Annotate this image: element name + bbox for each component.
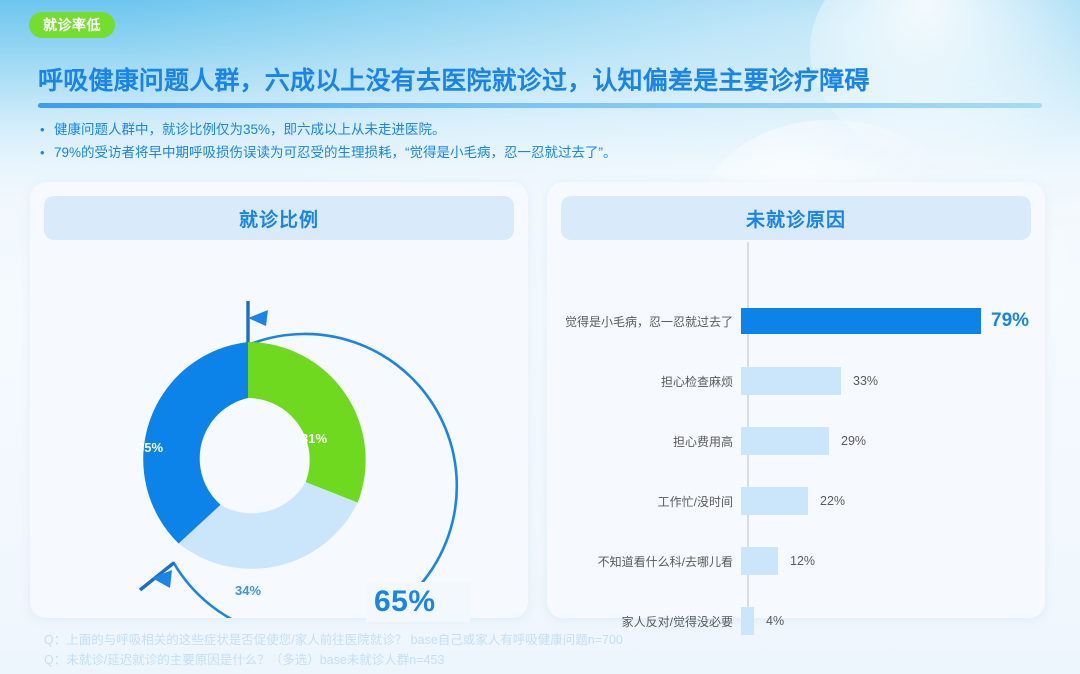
bar-value-label: 29%: [841, 434, 866, 448]
bar-category-label: 不知道看什么科/去哪儿看: [547, 553, 741, 570]
bar-fill: [741, 427, 829, 455]
bar-row: 担心检查麻烦 33%: [547, 366, 1045, 396]
bar-chart: 觉得是小毛病，忍一忍就过去了 79% 担心检查麻烦 33% 担心费用高 29%: [547, 242, 1045, 618]
bar-category-label: 担心费用高: [547, 433, 741, 450]
bar-fill: [741, 367, 841, 395]
bar-value-label: 22%: [820, 494, 845, 508]
visit-rate-card: 就诊比例: [30, 182, 528, 618]
list-item: • 健康问题人群中，就诊比例仅为35%，即六成以上从未走进医院。: [40, 118, 1030, 141]
bar-category-label: 工作忙/没时间: [547, 493, 741, 510]
bullet-text: 79%的受访者将早中期呼吸损伤误读为可忍受的生理损耗，“觉得是小毛病，忍一忍就过…: [54, 141, 617, 164]
bar-fill: [741, 487, 808, 515]
title-divider: [38, 103, 1042, 108]
bar-row: 不知道看什么科/去哪儿看 12%: [547, 546, 1045, 576]
source-note-line: Q：上面的与呼吸相关的这些症状是否促使您/家人前往医院就诊？ base自己或家人…: [44, 630, 623, 650]
donut-label-lightblue: 34%: [235, 583, 261, 598]
bar-track: 4%: [741, 606, 1045, 636]
bullet-marker: •: [40, 141, 54, 164]
bar-fill: [741, 607, 754, 635]
bar-row: 工作忙/没时间 22%: [547, 486, 1045, 516]
bar-value-label: 33%: [853, 374, 878, 388]
visit-rate-callout: 65%: [366, 582, 470, 622]
donut-svg: 31% 34% 35%: [30, 240, 528, 618]
callout-value: 65%: [374, 585, 436, 619]
bullet-marker: •: [40, 118, 54, 141]
donut-slices: [143, 342, 365, 569]
bar-row: 觉得是小毛病，忍一忍就过去了 79%: [547, 306, 1045, 336]
bar-value-label: 12%: [790, 554, 815, 568]
status-badge: 就诊率低: [29, 12, 115, 38]
bar-category-label: 担心检查麻烦: [547, 373, 741, 390]
donut-slice-green: [248, 342, 366, 503]
reasons-card: 未就诊原因 觉得是小毛病，忍一忍就过去了 79% 担心检查麻烦 33% 担心费用…: [547, 182, 1045, 618]
donut-chart: 31% 34% 35%: [30, 240, 528, 618]
bullet-text: 健康问题人群中，就诊比例仅为35%，即六成以上从未走进医院。: [54, 118, 446, 141]
arc-arrowhead-top: [248, 310, 268, 326]
list-item: • 79%的受访者将早中期呼吸损伤误读为可忍受的生理损耗，“觉得是小毛病，忍一忍…: [40, 141, 1030, 164]
card-title-visit-rate: 就诊比例: [44, 196, 514, 240]
bar-category-label: 觉得是小毛病，忍一忍就过去了: [547, 313, 741, 330]
bar-fill: [741, 547, 778, 575]
source-notes: Q：上面的与呼吸相关的这些症状是否促使您/家人前往医院就诊？ base自己或家人…: [44, 630, 623, 670]
bar-track: 12%: [741, 546, 1045, 576]
bar-track: 22%: [741, 486, 1045, 516]
bar-fill: [741, 308, 981, 334]
donut-label-darkblue: 35%: [137, 440, 163, 455]
slide-root: 就诊率低 呼吸健康问题人群，六成以上没有去医院就诊过，认知偏差是主要诊疗障碍 •…: [0, 0, 1080, 674]
bar-track: 29%: [741, 426, 1045, 456]
bar-row: 担心费用高 29%: [547, 426, 1045, 456]
bar-value-label: 79%: [991, 310, 1029, 332]
bar-value-label: 4%: [766, 614, 784, 628]
page-title: 呼吸健康问题人群，六成以上没有去医院就诊过，认知偏差是主要诊疗障碍: [38, 61, 1038, 97]
card-title-reasons: 未就诊原因: [561, 196, 1031, 240]
bar-track: 79%: [741, 306, 1045, 336]
bar-category-label: 家人反对/觉得没必要: [547, 613, 741, 630]
source-note-line: Q：未就诊/延迟就诊的主要原因是什么？（多选）base未就诊人群n=453: [44, 650, 623, 670]
summary-bullets: • 健康问题人群中，就诊比例仅为35%，即六成以上从未走进医院。 • 79%的受…: [40, 118, 1030, 164]
bar-track: 33%: [741, 366, 1045, 396]
donut-label-green: 31%: [301, 431, 327, 446]
